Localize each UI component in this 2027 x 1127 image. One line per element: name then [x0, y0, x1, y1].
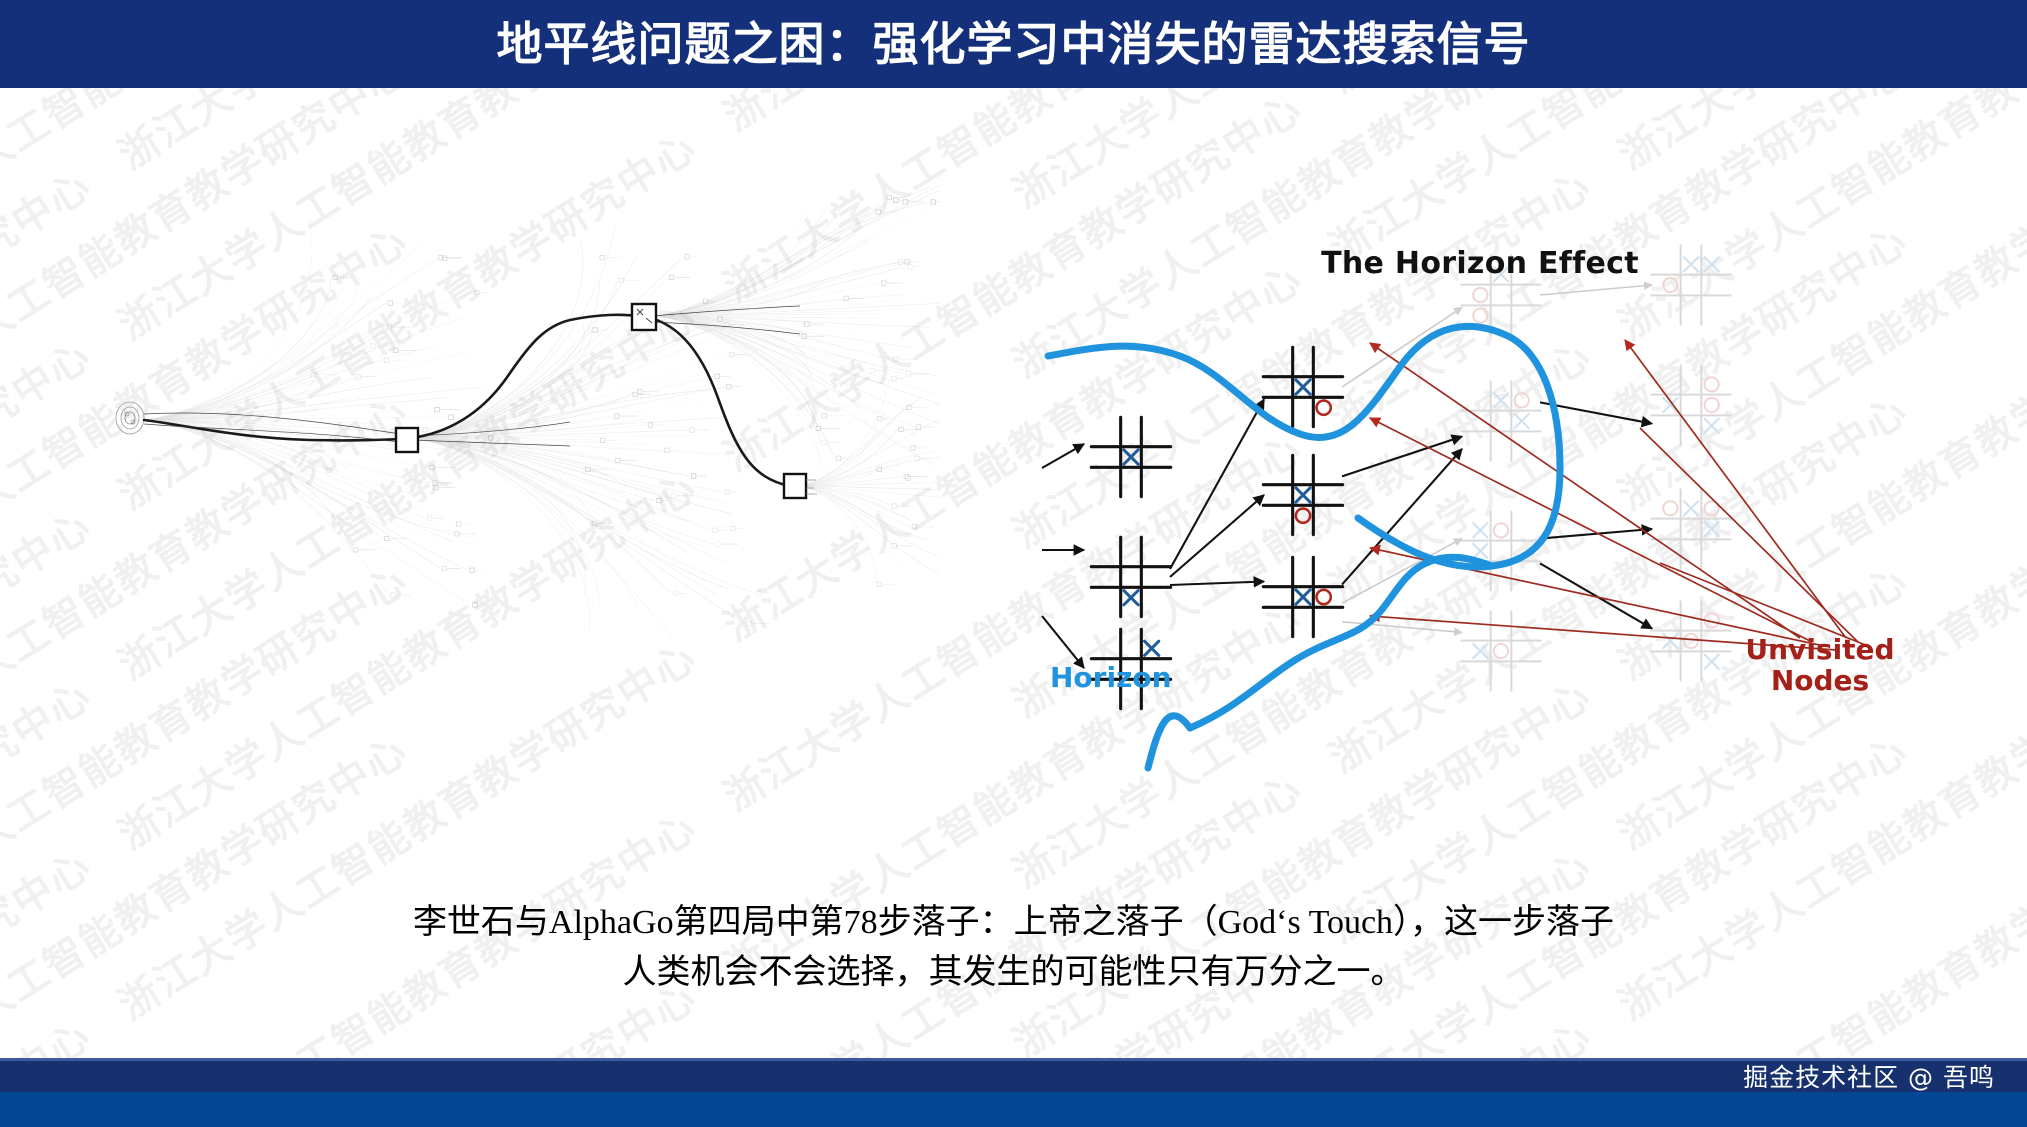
- horizon-label: Horizon: [1050, 662, 1172, 693]
- board-mark-x: [1684, 501, 1698, 515]
- board-mark-x: [1124, 450, 1138, 464]
- board-mark-o: [1473, 288, 1487, 302]
- board-mark-x: [1705, 522, 1719, 536]
- mcts-leaf-node: [756, 591, 769, 595]
- slide-content-area: The Horizon Effect: [0, 88, 2027, 1058]
- mcts-leaf-node: [391, 593, 412, 597]
- mcts-branch: [144, 350, 391, 420]
- mcts-branch: [412, 319, 716, 438]
- board-mark-x: [1663, 634, 1677, 648]
- mcts-leaf-node: [870, 369, 885, 373]
- unvisited-nodes-label: Unvisited Nodes: [1740, 634, 1900, 697]
- board-mark-o: [1515, 393, 1529, 407]
- mcts-principal-path: [144, 315, 790, 486]
- board-mark-x: [1296, 488, 1310, 502]
- board-mark-o: [1296, 509, 1310, 523]
- board-mark-x: [1494, 393, 1508, 407]
- board-mark-o: [1317, 590, 1331, 604]
- board-mark-o: [1705, 377, 1719, 391]
- mcts-branch: [412, 438, 715, 588]
- board-mark-x: [1705, 419, 1719, 433]
- mcts-leaf-node: [894, 357, 917, 361]
- mcts-branch: [144, 292, 358, 420]
- mcts-leaf-node: [593, 328, 608, 332]
- mcts-leaf-node: [470, 568, 484, 572]
- mcts-leaf-node: [892, 376, 904, 380]
- mcts-leaf-node: [423, 428, 437, 432]
- tree-edge-arrow: [1170, 495, 1264, 577]
- mcts-branch: [656, 316, 914, 427]
- mcts-branch: [800, 486, 896, 535]
- tree-edge-arrow: [1042, 444, 1084, 468]
- tree-edge-arrow: [1170, 399, 1264, 569]
- mcts-leaf-node: [892, 544, 913, 548]
- mcts-branch: [800, 486, 908, 573]
- mcts-branch: [656, 185, 940, 316]
- mcts-leaf-node: [690, 428, 709, 432]
- mcts-branch: [656, 237, 848, 316]
- mcts-leaf-node: [877, 582, 893, 586]
- board-mark-o: [1705, 398, 1719, 412]
- mcts-leaf-node: [600, 256, 622, 260]
- footer-band-dark: 掘金技术社区 @ 吾鸣: [0, 1061, 2027, 1092]
- mcts-leaf-node: [456, 522, 469, 526]
- mcts-leaf-node: [729, 352, 746, 356]
- mcts-tree-svg: [100, 148, 940, 748]
- mcts-branch: [144, 420, 471, 605]
- mcts-leaf-node: [892, 504, 911, 508]
- mcts-leaf-node: [685, 255, 697, 259]
- mcts-leaf-node: [822, 440, 840, 444]
- mcts-leaf-node: [836, 456, 848, 460]
- tree-edge-arrow: [1170, 582, 1264, 586]
- board-mark-o: [1494, 644, 1508, 658]
- mcts-leaf-node: [475, 290, 488, 294]
- mcts-leaf-node: [725, 490, 736, 494]
- mcts-branch: [412, 438, 727, 564]
- mcts-leaf-node: [716, 542, 739, 546]
- mcts-branch: [412, 258, 598, 438]
- mcts-leaf-node: [371, 344, 394, 348]
- mcts-leaf-node: [877, 417, 888, 421]
- board-mark-x: [1473, 523, 1487, 537]
- mcts-leaf-node: [600, 438, 616, 442]
- tree-edge-arrow: [1540, 285, 1652, 295]
- tictactoe-board: [1091, 417, 1170, 496]
- mcts-leaf-node: [433, 481, 453, 485]
- mcts-leaf-node: [388, 301, 411, 305]
- mcts-branch: [412, 438, 744, 624]
- mcts-branch: [656, 202, 901, 316]
- mcts-leaf-node: [673, 591, 686, 595]
- board-mark-x: [1296, 380, 1310, 394]
- mcts-branch: [656, 187, 930, 316]
- footer-band-light: [0, 1092, 2027, 1127]
- board-mark-o: [1684, 634, 1698, 648]
- mcts-leaf-node: [657, 498, 669, 502]
- caption-line-2: 人类机会不会选择，其发生的可能性只有万分之一。: [0, 948, 2027, 998]
- tictactoe-board-unvisited: [1651, 365, 1730, 444]
- slide-title-bar: 地平线问题之困：强化学习中消失的雷达搜索信号: [0, 0, 2027, 88]
- mcts-branch: [144, 220, 312, 420]
- mcts-leaf-node: [312, 372, 336, 376]
- mcts-branch: [144, 420, 380, 495]
- unvisited-nodes-label-line2: Nodes: [1771, 664, 1869, 697]
- board-mark-x: [1145, 641, 1159, 655]
- mcts-branch: [656, 180, 940, 316]
- mcts-leaf-node: [931, 200, 940, 204]
- mcts-branch: [412, 281, 600, 438]
- board-mark-x: [1473, 544, 1487, 558]
- tictactoe-board-unvisited: [1651, 489, 1730, 568]
- mcts-search-tree-figure: [100, 148, 940, 748]
- mcts-leaf-node: [648, 423, 663, 427]
- tictactoe-board: [1091, 537, 1170, 616]
- mcts-leaf-node: [908, 265, 922, 269]
- mcts-leaf-node: [434, 485, 455, 489]
- slide-footer: 掘金技术社区 @ 吾鸣: [0, 1058, 2027, 1127]
- mcts-leaf-node: [473, 603, 486, 607]
- mcts-node: [632, 304, 656, 330]
- board-mark-o: [1317, 401, 1331, 415]
- mcts-leaf-node: [747, 622, 770, 626]
- mcts-leaf-node: [669, 275, 690, 279]
- tictactoe-boards-layer: [1091, 245, 1730, 708]
- mcts-branch: [144, 318, 464, 420]
- mcts-leaf-node: [911, 446, 925, 450]
- board-mark-o: [1473, 309, 1487, 323]
- mcts-root-cluster: [116, 402, 144, 434]
- mcts-branch: [656, 204, 940, 316]
- mcts-leaf-node: [727, 385, 742, 389]
- caption-line-1: 李世石与AlphaGo第四局中第78步落子：上帝之落子（God‘s Touch）…: [0, 898, 2027, 948]
- tictactoe-board: [1263, 557, 1342, 636]
- mcts-leaf-node: [384, 358, 404, 362]
- mcts-branch: [412, 438, 714, 544]
- board-mark-x: [1705, 655, 1719, 669]
- mcts-leaf-node: [442, 256, 461, 260]
- mcts-leaf-node: [430, 465, 454, 469]
- mcts-leaf-node: [384, 536, 404, 540]
- mcts-branch: [800, 486, 876, 584]
- mcts-node: [396, 428, 418, 452]
- mcts-leaf-node: [730, 526, 745, 530]
- tictactoe-board: [1263, 347, 1342, 426]
- tictactoe-board: [1263, 455, 1342, 534]
- mcts-leaf-node: [844, 296, 865, 300]
- unvisited-node-arrows: [1370, 340, 1868, 650]
- mcts-leaf-node: [427, 516, 444, 520]
- page-title: 地平线问题之困：强化学习中消失的雷达搜索信号: [497, 21, 1531, 67]
- mcts-leaf-node: [713, 528, 727, 532]
- tictactoe-board-unvisited: [1461, 381, 1540, 460]
- board-mark-x: [1473, 644, 1487, 658]
- board-mark-x: [1296, 590, 1310, 604]
- tree-edge-arrow: [1342, 307, 1462, 387]
- mcts-leaf-node: [353, 548, 376, 552]
- mcts-leaf-node: [916, 425, 934, 429]
- mcts-branch: [800, 486, 940, 576]
- tree-edge-arrow: [1540, 529, 1652, 539]
- mcts-leaf-node: [881, 281, 902, 285]
- mcts-leaf-node: [333, 275, 352, 279]
- unvisited-nodes-label-line1: Unvisited: [1745, 633, 1894, 666]
- mcts-leaf-node: [912, 525, 935, 529]
- board-mark-o: [1494, 523, 1508, 537]
- mcts-branch: [144, 298, 371, 420]
- figure-caption: 李世石与AlphaGo第四局中第78步落子：上帝之落子（God‘s Touch）…: [0, 898, 2027, 997]
- horizon-effect-title: The Horizon Effect: [1040, 246, 1920, 281]
- mcts-leaf-node: [715, 374, 731, 378]
- mcts-branch: [144, 420, 313, 496]
- horizon-effect-figure: The Horizon Effect: [1040, 168, 1920, 788]
- mcts-branch: [412, 438, 711, 530]
- board-mark-x: [1515, 414, 1529, 428]
- mcts-leaf-node: [435, 407, 460, 411]
- mcts-leaf-node: [691, 474, 706, 478]
- board-mark-o: [1663, 501, 1677, 515]
- mcts-branch: [800, 397, 922, 486]
- mcts-leaf-node: [442, 566, 460, 570]
- mcts-branch: [412, 438, 671, 593]
- mcts-leaf-node: [616, 459, 638, 463]
- mcts-branch: [656, 200, 845, 316]
- mcts-branch: [800, 486, 940, 558]
- board-mark-x: [1124, 591, 1138, 605]
- mcts-leaf-node: [915, 456, 932, 460]
- mcts-branch: [412, 438, 639, 607]
- mcts-branch: [412, 438, 675, 641]
- mcts-branch: [144, 242, 423, 420]
- mcts-leaf-node: [887, 195, 906, 199]
